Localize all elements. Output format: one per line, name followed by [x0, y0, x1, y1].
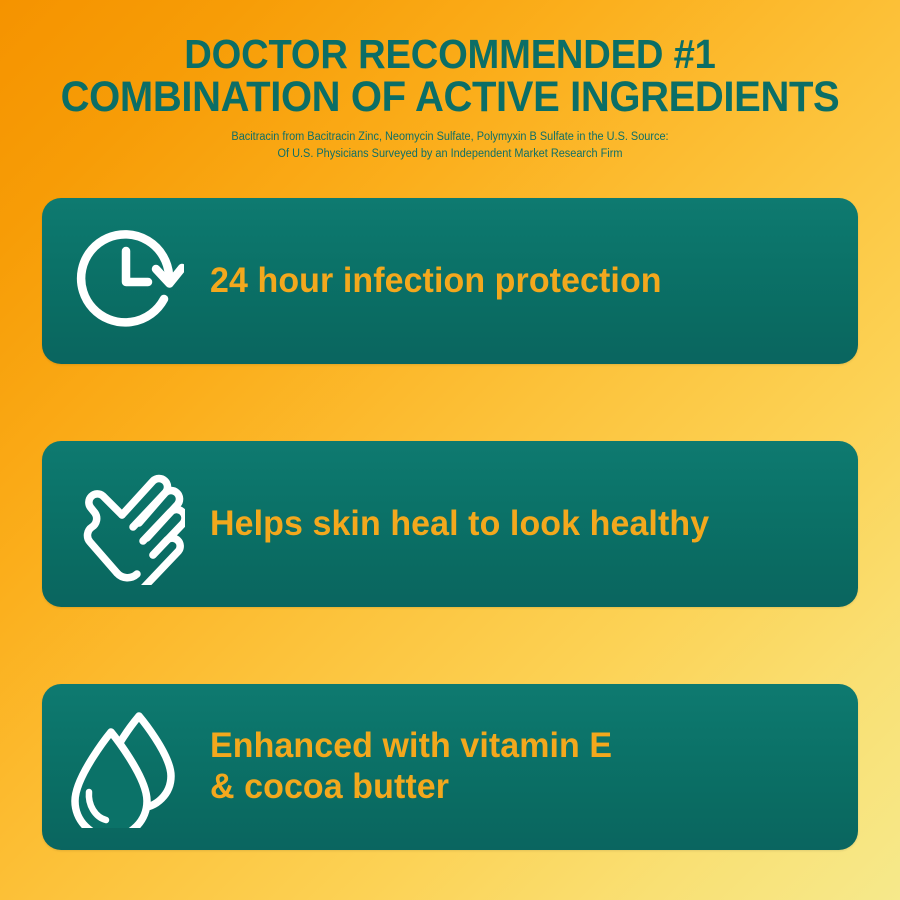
promo-poster: DOCTOR RECOMMENDED #1 COMBINATION OF ACT… [0, 0, 900, 900]
benefit-card-list: 24 hour infection protection [42, 198, 858, 850]
droplets-icon [42, 684, 210, 850]
footnote-line-1: Bacitracin from Bacitracin Zinc, Neomyci… [23, 129, 878, 147]
benefit-card-label: Helps skin heal to look healthy [210, 504, 709, 545]
hand-icon [42, 441, 210, 607]
benefit-card-label: Enhanced with vitamin E & cocoa butter [210, 726, 612, 807]
headline-line-1: DOCTOR RECOMMENDED #1 [184, 31, 715, 77]
benefit-card-vitamin-e-cocoa-butter: Enhanced with vitamin E & cocoa butter [42, 684, 858, 850]
footnote: Bacitracin from Bacitracin Zinc, Neomyci… [23, 129, 878, 165]
benefit-card-label: 24 hour infection protection [210, 261, 662, 302]
clock-arrow-icon [42, 198, 210, 364]
poster-header: DOCTOR RECOMMENDED #1 COMBINATION OF ACT… [0, 34, 900, 164]
footnote-line-2: Of U.S. Physicians Surveyed by an Indepe… [23, 146, 878, 164]
page-title: DOCTOR RECOMMENDED #1 COMBINATION OF ACT… [32, 34, 869, 120]
benefit-card-24-hour-protection: 24 hour infection protection [42, 198, 858, 364]
headline-line-2: COMBINATION OF ACTIVE INGREDIENTS [32, 76, 869, 120]
benefit-card-skin-heal: Helps skin heal to look healthy [42, 441, 858, 607]
